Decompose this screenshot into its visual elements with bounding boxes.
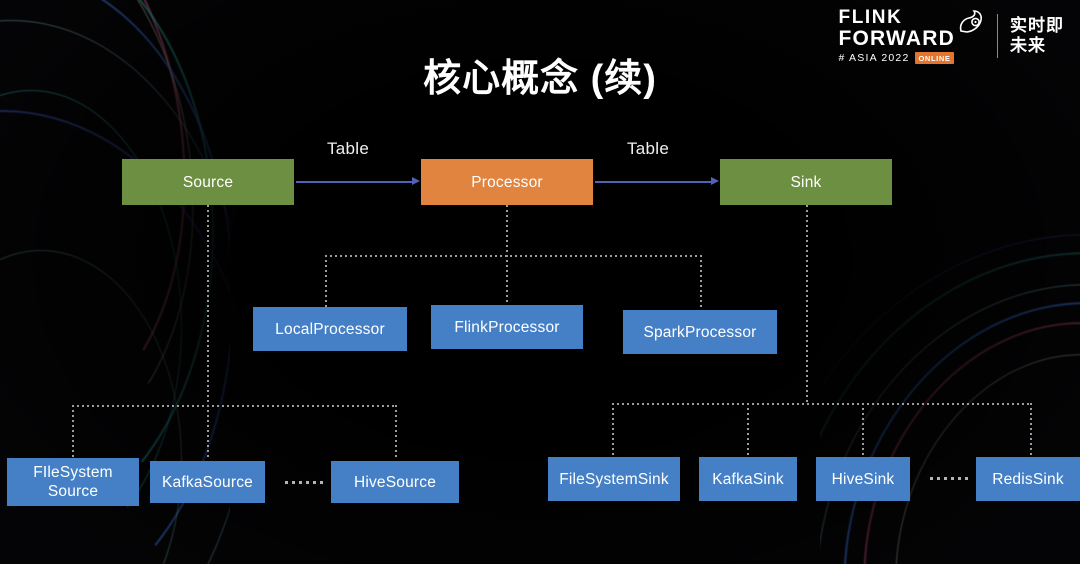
connector-source-drop-filesystem [72, 405, 74, 458]
connector-source-stem [207, 205, 209, 405]
node-kafka-sink-label: KafkaSink [712, 470, 784, 489]
node-processor[interactable]: Processor [421, 159, 593, 205]
node-kafka-source-label: KafkaSource [162, 473, 253, 492]
node-filesystem-sink-label: FileSystemSink [559, 470, 669, 489]
connector-sink-drop-hive [862, 403, 864, 457]
arrow-source-to-processor-head [412, 177, 420, 185]
node-flink-processor-label: FlinkProcessor [454, 318, 559, 337]
connector-processor-bus [325, 255, 702, 257]
connector-sink-drop-kafka [747, 403, 749, 457]
arrow-processor-to-sink-line [595, 181, 711, 183]
node-sink[interactable]: Sink [720, 159, 892, 205]
node-kafka-source[interactable]: KafkaSource [150, 461, 265, 503]
connector-sink-bus [612, 403, 1032, 405]
node-hive-sink-label: HiveSink [832, 470, 895, 489]
connector-source-bus [72, 405, 397, 407]
architecture-diagram: Source Processor Sink Table Table LocalP… [0, 0, 1080, 564]
edge-label-source-processor: Table [327, 139, 369, 159]
node-flink-processor[interactable]: FlinkProcessor [431, 305, 583, 349]
node-hive-source-label: HiveSource [354, 473, 436, 492]
connector-sink-drop-filesystem [612, 403, 614, 457]
node-spark-processor[interactable]: SparkProcessor [623, 310, 777, 354]
connector-source-drop-kafka [207, 405, 209, 458]
connector-sink-drop-redis [1030, 403, 1032, 457]
connector-sink-stem [806, 205, 808, 405]
arrow-processor-to-sink-head [711, 177, 719, 185]
node-hive-source[interactable]: HiveSource [331, 461, 459, 503]
connector-source-drop-hive [395, 405, 397, 458]
node-processor-label: Processor [471, 173, 543, 192]
edge-label-processor-sink: Table [627, 139, 669, 159]
node-source[interactable]: Source [122, 159, 294, 205]
connector-processor-stem [506, 205, 508, 257]
node-filesystem-source[interactable]: FIleSystem Source [7, 458, 139, 506]
node-redis-sink[interactable]: RedisSink [976, 457, 1080, 501]
node-local-processor[interactable]: LocalProcessor [253, 307, 407, 351]
node-redis-sink-label: RedisSink [992, 470, 1064, 489]
node-filesystem-sink[interactable]: FileSystemSink [548, 457, 680, 501]
node-local-processor-label: LocalProcessor [275, 320, 385, 339]
sink-ellipsis [930, 477, 970, 480]
node-spark-processor-label: SparkProcessor [643, 323, 756, 342]
node-hive-sink[interactable]: HiveSink [816, 457, 910, 501]
connector-processor-drop-spark [700, 255, 702, 311]
slide-canvas: FLINK FORWARD # ASIA 2022 ONLINE 实时即 未来 … [0, 0, 1080, 564]
node-sink-label: Sink [791, 173, 822, 192]
source-ellipsis [285, 481, 325, 484]
node-source-label: Source [183, 173, 233, 192]
node-filesystem-source-label-line2: Source [48, 482, 98, 501]
node-filesystem-source-label-line1: FIleSystem [33, 463, 113, 482]
arrow-source-to-processor-line [296, 181, 412, 183]
node-kafka-sink[interactable]: KafkaSink [699, 457, 797, 501]
connector-processor-drop-flink [506, 255, 508, 307]
connector-processor-drop-local [325, 255, 327, 307]
